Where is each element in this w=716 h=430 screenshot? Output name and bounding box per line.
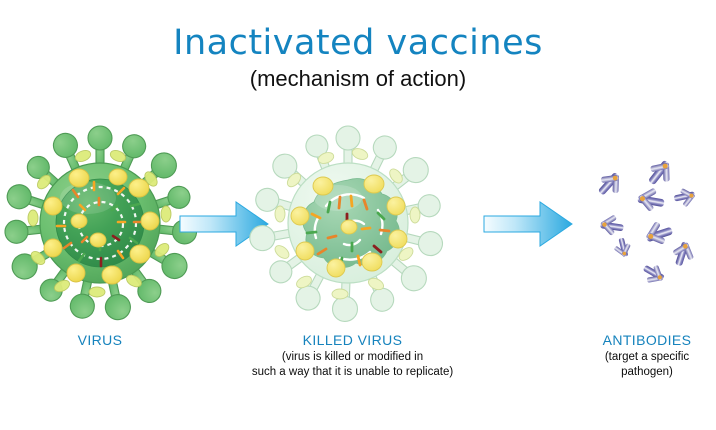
- antibody: [672, 186, 697, 210]
- arrow-killed-to-antibodies: [482, 196, 574, 252]
- antibody-group: [593, 155, 698, 288]
- caption-killed-virus-line2: such a way that it is unable to replicat…: [230, 365, 475, 379]
- stage-virus-graphic: [0, 118, 200, 328]
- antibody: [612, 236, 634, 258]
- antibody: [642, 155, 678, 191]
- antibody: [636, 185, 666, 214]
- page-title: Inactivated vaccines: [0, 22, 716, 64]
- antibody: [639, 260, 668, 289]
- figure-canvas: Inactivated vaccines (mechanism of actio…: [0, 0, 716, 430]
- stage-antibodies-graphic: [580, 150, 715, 300]
- caption-antibodies: ANTIBODIES (target a specific pathogen): [578, 331, 716, 379]
- caption-virus: VIRUS: [20, 331, 180, 349]
- caption-killed-virus-title: KILLED VIRUS: [230, 331, 475, 349]
- caption-killed-virus: KILLED VIRUS (virus is killed or modifie…: [230, 331, 475, 379]
- antibody-cluster-illustration: [580, 150, 715, 300]
- caption-virus-title: VIRUS: [20, 331, 180, 349]
- arrow-icon: [482, 196, 574, 252]
- page-subtitle: (mechanism of action): [0, 65, 716, 93]
- caption-antibodies-line2: pathogen): [578, 365, 716, 379]
- antibody: [593, 167, 628, 202]
- virus-illustration: [0, 118, 200, 328]
- antibody: [643, 217, 676, 249]
- caption-killed-virus-line1: (virus is killed or modified in: [230, 350, 475, 364]
- title-block: Inactivated vaccines (mechanism of actio…: [0, 22, 716, 93]
- caption-antibodies-title: ANTIBODIES: [578, 331, 716, 349]
- killed-virus-illustration: [248, 118, 453, 328]
- antibody: [669, 239, 698, 269]
- caption-antibodies-line1: (target a specific: [578, 350, 716, 364]
- antibody: [599, 213, 625, 238]
- stage-killed-virus-graphic: [248, 118, 453, 328]
